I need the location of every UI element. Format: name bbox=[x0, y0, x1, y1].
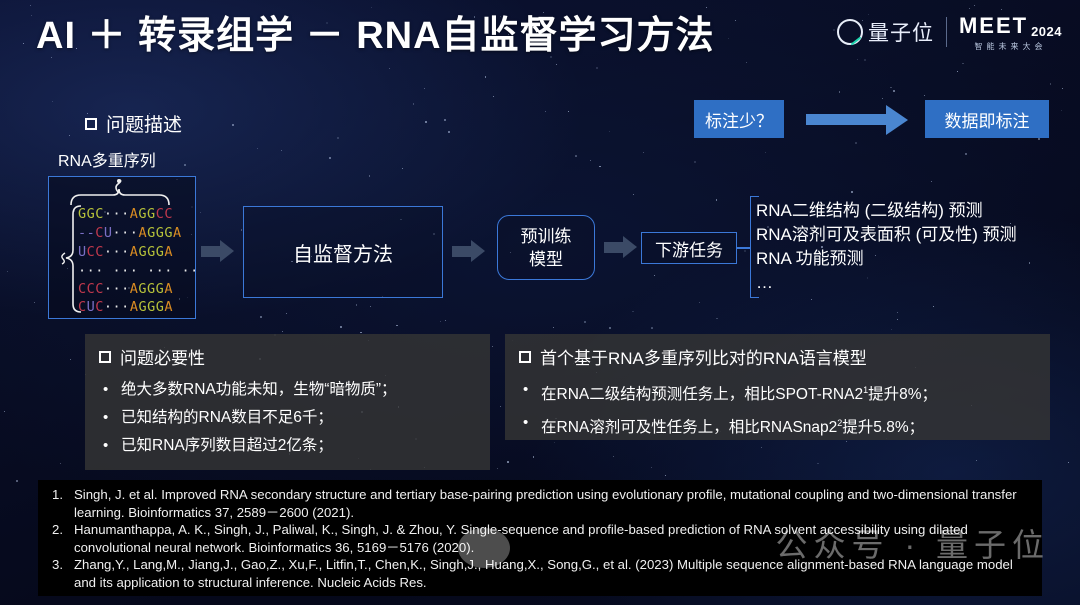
meet-logo-text: MEET bbox=[959, 13, 1028, 39]
qbit-logo: 量子位 bbox=[837, 17, 934, 47]
rna-msa-box: GGC···AGGCC --CU···AGGGA UCC···AGGGA ···… bbox=[48, 176, 196, 319]
list-item: 在RNA二级结构预测任务上，相比SPOT-RNA21提升8%； bbox=[519, 376, 1036, 409]
badge-data-is-label: 数据即标注 bbox=[925, 100, 1049, 138]
msa-row: GGC···AGGCC bbox=[78, 206, 173, 222]
panel-left-list: 绝大多数RNA功能未知，生物“暗物质”； 已知结构的RNA数目不足6千； 已知R… bbox=[99, 376, 476, 460]
list-item-pre: 在RNA二级结构预测任务上，相比SPOT-RNA2 bbox=[541, 386, 863, 403]
banner-arrow-icon bbox=[806, 105, 910, 135]
bullet-square-icon bbox=[519, 351, 531, 363]
flow-box-pretrained-model: 预训练 模型 bbox=[497, 215, 595, 280]
msa-row: --CU···AGGGA bbox=[78, 225, 182, 241]
task-item: … bbox=[756, 271, 1017, 295]
reference-number: 1. bbox=[46, 486, 74, 521]
reference-row: 3. Zhang,Y., Lang,M., Jiang,J., Gao,Z., … bbox=[46, 556, 1032, 591]
reference-row: 1. Singh, J. et al. Improved RNA seconda… bbox=[46, 486, 1032, 521]
references-block: 1. Singh, J. et al. Improved RNA seconda… bbox=[38, 480, 1042, 596]
msa-row: UCC···AGGGA bbox=[78, 244, 173, 260]
panel-rna-language-model: 首个基于RNA多重序列比对的RNA语言模型 在RNA二级结构预测任务上，相比SP… bbox=[505, 334, 1050, 440]
list-item: 在RNA溶剂可及性任务上，相比RNASnap22提升5.8%； bbox=[519, 409, 1036, 442]
task-item: RNA 功能预测 bbox=[756, 247, 1017, 271]
flow-arrow-icon-3 bbox=[604, 236, 638, 259]
reference-row: 2. Hanumanthappa, A. K., Singh, J., Pali… bbox=[46, 521, 1032, 556]
reference-text: Singh, J. et al. Improved RNA secondary … bbox=[74, 486, 1032, 521]
pretrained-line-2: 模型 bbox=[529, 248, 563, 271]
badge-few-labels: 标注少？ bbox=[694, 100, 784, 138]
msa-row: ··· ··· ··· ··· ··· bbox=[78, 263, 196, 279]
qbit-logo-text: 量子位 bbox=[868, 17, 934, 47]
slide-header: AI ＋ 转录组学 － RNA自监督学习方法 量子位 MEET 2024 智能未… bbox=[0, 0, 1080, 66]
page-title: AI ＋ 转录组学 － RNA自监督学习方法 bbox=[36, 4, 715, 59]
list-item-post: 提升8%； bbox=[868, 386, 937, 403]
slide-canvas: AI ＋ 转录组学 － RNA自监督学习方法 量子位 MEET 2024 智能未… bbox=[0, 0, 1080, 605]
task-item: RNA二维结构 (二级结构) 预测 bbox=[756, 199, 1017, 223]
panel-right-heading-text: 首个基于RNA多重序列比对的RNA语言模型 bbox=[540, 349, 867, 368]
bullet-square-icon bbox=[85, 118, 97, 130]
meet-logo-year: 2024 bbox=[1031, 24, 1062, 39]
flow-arrow-icon-1 bbox=[201, 240, 235, 263]
brand-logos: 量子位 MEET 2024 智能未来大会 bbox=[837, 10, 1062, 54]
reference-text: Zhang,Y., Lang,M., Jiang,J., Gao,Z., Xu,… bbox=[74, 556, 1032, 591]
list-item: 绝大多数RNA功能未知，生物“暗物质”； bbox=[99, 376, 476, 404]
panel-problem-necessity: 问题必要性 绝大多数RNA功能未知，生物“暗物质”； 已知结构的RNA数目不足6… bbox=[85, 334, 490, 470]
msa-row: CUC···AGGGA bbox=[78, 299, 173, 315]
qbit-q-icon bbox=[837, 19, 863, 45]
bracket-stem bbox=[737, 247, 751, 249]
list-item-pre: 在RNA溶剂可及性任务上，相比RNASnap2 bbox=[541, 419, 837, 436]
panel-right-heading: 首个基于RNA多重序列比对的RNA语言模型 bbox=[519, 344, 1036, 369]
list-item-post: 提升5.8%； bbox=[842, 419, 924, 436]
panel-left-heading: 问题必要性 bbox=[99, 344, 476, 369]
panel-left-heading-text: 问题必要性 bbox=[120, 349, 205, 368]
bullet-square-icon bbox=[99, 351, 111, 363]
flow-box-downstream-tasks: 下游任务 bbox=[641, 232, 737, 264]
problem-description-heading: 问题描述 bbox=[85, 110, 182, 137]
logo-divider bbox=[946, 17, 947, 47]
meet-logo: MEET 2024 智能未来大会 bbox=[959, 13, 1062, 52]
reference-number: 2. bbox=[46, 521, 74, 556]
list-item: 已知RNA序列数目超过2亿条； bbox=[99, 432, 476, 460]
meet-logo-subtitle: 智能未来大会 bbox=[974, 41, 1046, 52]
downstream-task-list: RNA二维结构 (二级结构) 预测 RNA溶剂可及表面积 (可及性) 预测 RN… bbox=[756, 199, 1017, 295]
flow-arrow-icon-2 bbox=[452, 240, 486, 263]
panel-right-list: 在RNA二级结构预测任务上，相比SPOT-RNA21提升8%； 在RNA溶剂可及… bbox=[519, 376, 1036, 442]
list-item: 已知结构的RNA数目不足6千； bbox=[99, 404, 476, 432]
task-item: RNA溶剂可及表面积 (可及性) 预测 bbox=[756, 223, 1017, 247]
reference-text: Hanumanthappa, A. K., Singh, J., Paliwal… bbox=[74, 521, 1032, 556]
pretrained-line-1: 预训练 bbox=[521, 225, 572, 248]
flow-box-self-supervised: 自监督方法 bbox=[243, 206, 443, 298]
msa-row: CCC···AGGGA bbox=[78, 281, 173, 297]
msa-caption: RNA多重序列 bbox=[58, 147, 156, 171]
reference-number: 3. bbox=[46, 556, 74, 591]
